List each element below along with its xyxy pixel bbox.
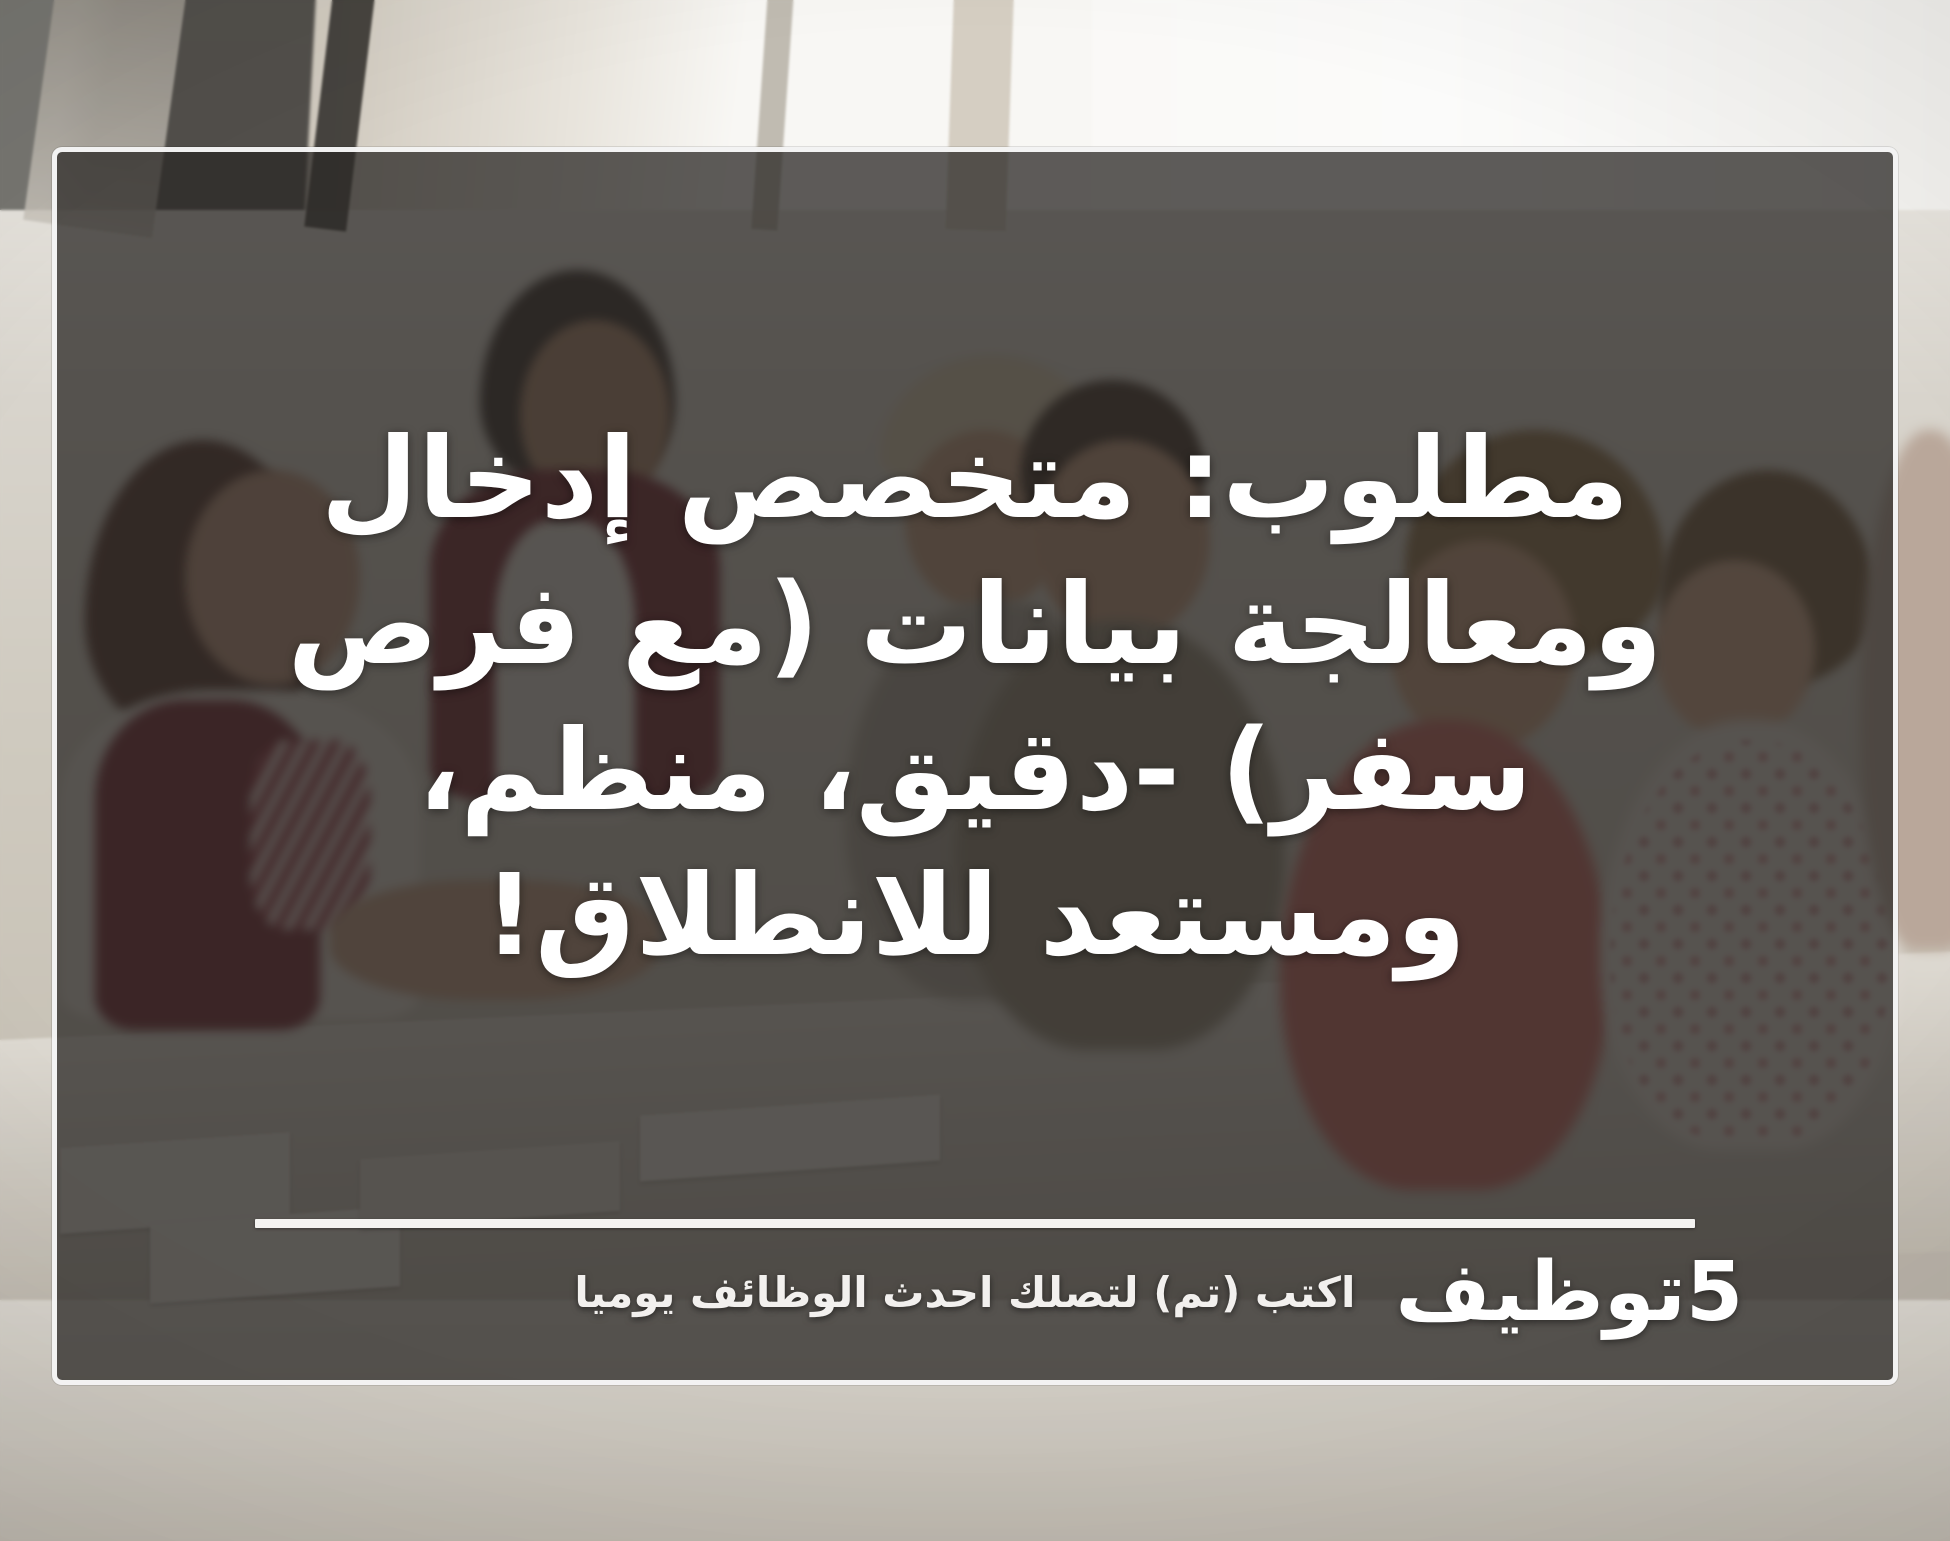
screenshot-root: مطلوب: متخصص إدخال ومعالجة بيانات (مع فر…	[0, 0, 1950, 1541]
headline-container: مطلوب: متخصص إدخال ومعالجة بيانات (مع فر…	[57, 152, 1893, 1219]
subscribe-tagline: اكتب (تم) لتصلك احدث الوظائف يوميا	[574, 1270, 1355, 1316]
brand-name: 5توظيف	[1395, 1252, 1743, 1334]
footer-divider	[255, 1219, 1695, 1228]
job-ad-card: مطلوب: متخصص إدخال ومعالجة بيانات (مع فر…	[52, 147, 1898, 1385]
card-footer: 5توظيف اكتب (تم) لتصلك احدث الوظائف يومي…	[57, 1228, 1893, 1380]
job-headline: مطلوب: متخصص إدخال ومعالجة بيانات (مع فر…	[195, 407, 1755, 989]
divider-row	[57, 1219, 1893, 1228]
